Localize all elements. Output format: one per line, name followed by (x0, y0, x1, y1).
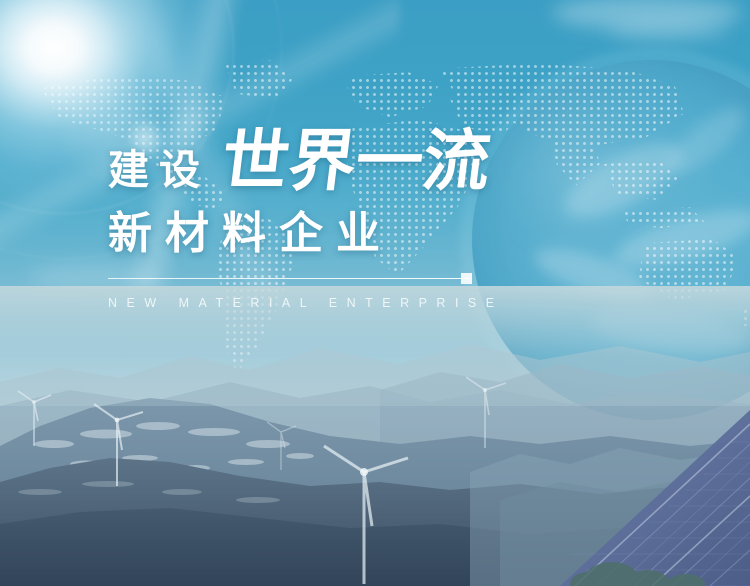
wind-turbine-foreground (316, 430, 412, 586)
cloud-wisp (608, 20, 728, 42)
headline-kicker: 建设 (108, 150, 210, 191)
divider-rule (108, 278, 470, 279)
divider-end-cap (461, 273, 472, 284)
wind-turbine (462, 372, 508, 450)
headline-line-1: 建设 世界一流 (108, 128, 628, 195)
wind-turbine (88, 398, 146, 488)
hero-banner: 建设 世界一流 新材料企业 NEW MATERIAL ENTERPRISE (0, 0, 750, 586)
wind-turbine (14, 388, 54, 448)
wind-turbine (264, 420, 298, 472)
headline-subtitle: NEW MATERIAL ENTERPRISE (108, 296, 628, 310)
headline-block: 建设 世界一流 新材料企业 NEW MATERIAL ENTERPRISE (108, 128, 628, 310)
headline-hero: 世界一流 (218, 128, 494, 195)
headline-line-2: 新材料企业 (108, 212, 628, 256)
